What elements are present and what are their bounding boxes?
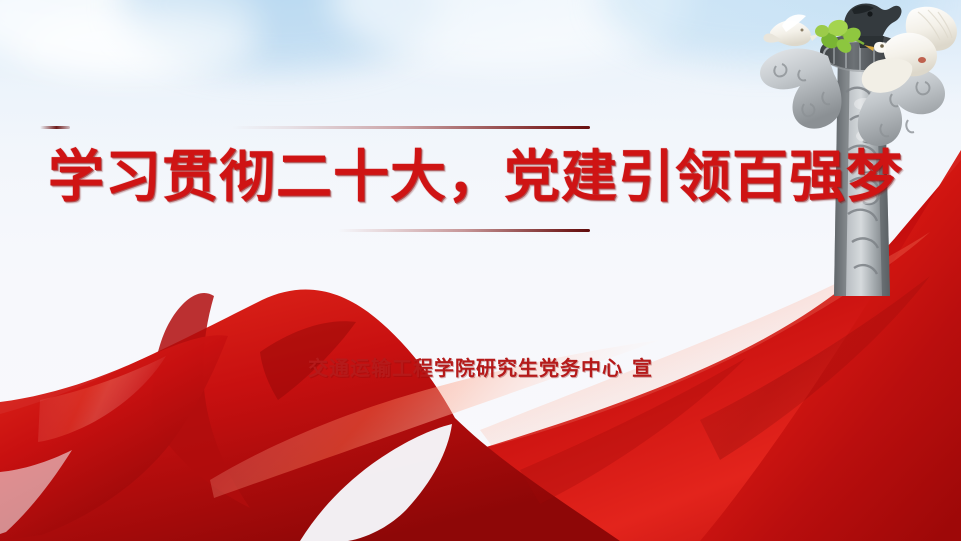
subtitle-suffix: 宣 (632, 358, 653, 380)
title-text-block: 学习贯彻二十大，党建引领百强梦 交通运输工程学院研究生党务中心宣 (0, 0, 961, 541)
title-rule-bottom (338, 229, 590, 232)
title-rule-top (232, 126, 590, 129)
subtitle-organization: 交通运输工程学院研究生党务中心 (308, 358, 623, 380)
page-title: 学习贯彻二十大，党建引领百强梦 (48, 144, 808, 210)
presentation-title-slide: 学习贯彻二十大，党建引领百强梦 交通运输工程学院研究生党务中心宣 (0, 0, 961, 541)
title-rule-top-stub (40, 126, 70, 129)
subtitle: 交通运输工程学院研究生党务中心宣 (0, 352, 961, 381)
